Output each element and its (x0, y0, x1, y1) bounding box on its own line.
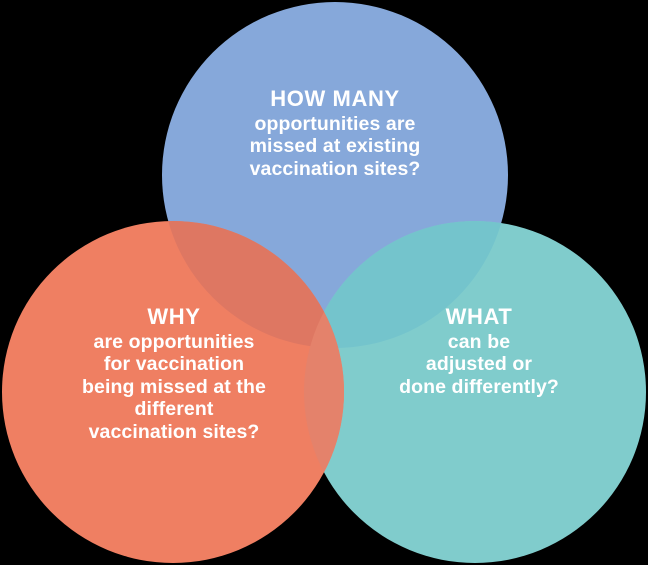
why-heading: WHY (40, 304, 308, 330)
label-why: WHY are opportunities for vaccination be… (40, 304, 308, 444)
venn-circles-graphic (0, 0, 648, 565)
what-line-2: adjusted or (375, 353, 583, 376)
why-line-5: vaccination sites? (40, 421, 308, 444)
label-how-many: HOW MANY opportunities are missed at exi… (205, 86, 465, 180)
how-many-line-1: opportunities are (205, 113, 465, 136)
what-heading: WHAT (375, 304, 583, 330)
how-many-line-2: missed at existing (205, 135, 465, 158)
venn-diagram: HOW MANY opportunities are missed at exi… (0, 0, 648, 565)
why-line-1: are opportunities (40, 331, 308, 354)
why-line-3: being missed at the (40, 376, 308, 399)
what-line-1: can be (375, 331, 583, 354)
label-what: WHAT can be adjusted or done differently… (375, 304, 583, 398)
why-line-4: different (40, 398, 308, 421)
what-line-3: done differently? (375, 376, 583, 399)
how-many-line-3: vaccination sites? (205, 158, 465, 181)
why-line-2: for vaccination (40, 353, 308, 376)
how-many-heading: HOW MANY (205, 86, 465, 112)
